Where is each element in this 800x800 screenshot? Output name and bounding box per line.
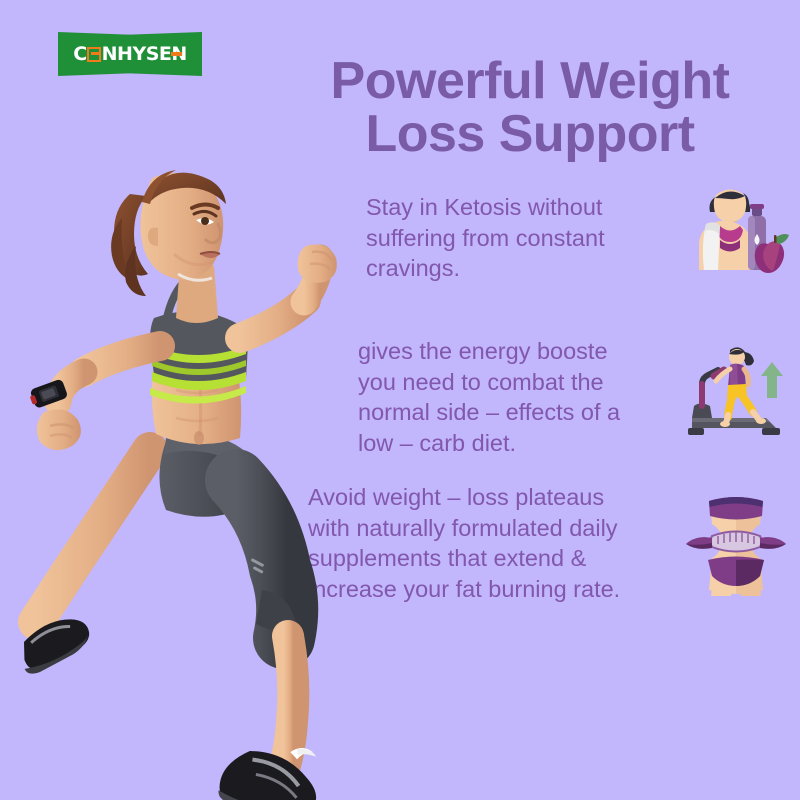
page-title: Powerful Weight Loss Support [280,55,780,162]
brand-logo: C NHYSEN [58,32,202,76]
logo-letter-c: C [73,43,86,65]
logo-o-glyph-icon [87,47,101,62]
waist-measuring-tape-icon [680,484,792,596]
benefit-text-energy-boost: gives the energy booste you need to comb… [358,336,620,458]
promo-poster: C NHYSEN Powerful Weight Loss Support St… [0,0,800,800]
running-woman-photo [0,150,360,800]
logo-s-accent-bar [171,52,182,56]
benefit-line: low – carb diet. [358,428,620,459]
benefit-text-ketosis: Stay in Ketosis without suffering from c… [366,192,605,284]
benefit-line: cravings. [366,253,605,284]
benefit-line: gives the energy booste [358,336,620,367]
benefit-line: you need to combat the [358,367,620,398]
woman-on-treadmill-icon [680,332,792,444]
benefit-line: Stay in Ketosis without [366,192,605,223]
benefit-line: suffering from constant [366,223,605,254]
headline-line-1: Powerful Weight [280,55,780,109]
benefit-line: normal side – effects of a [358,397,620,428]
woman-with-towel-bottle-apple-icon [680,178,792,290]
